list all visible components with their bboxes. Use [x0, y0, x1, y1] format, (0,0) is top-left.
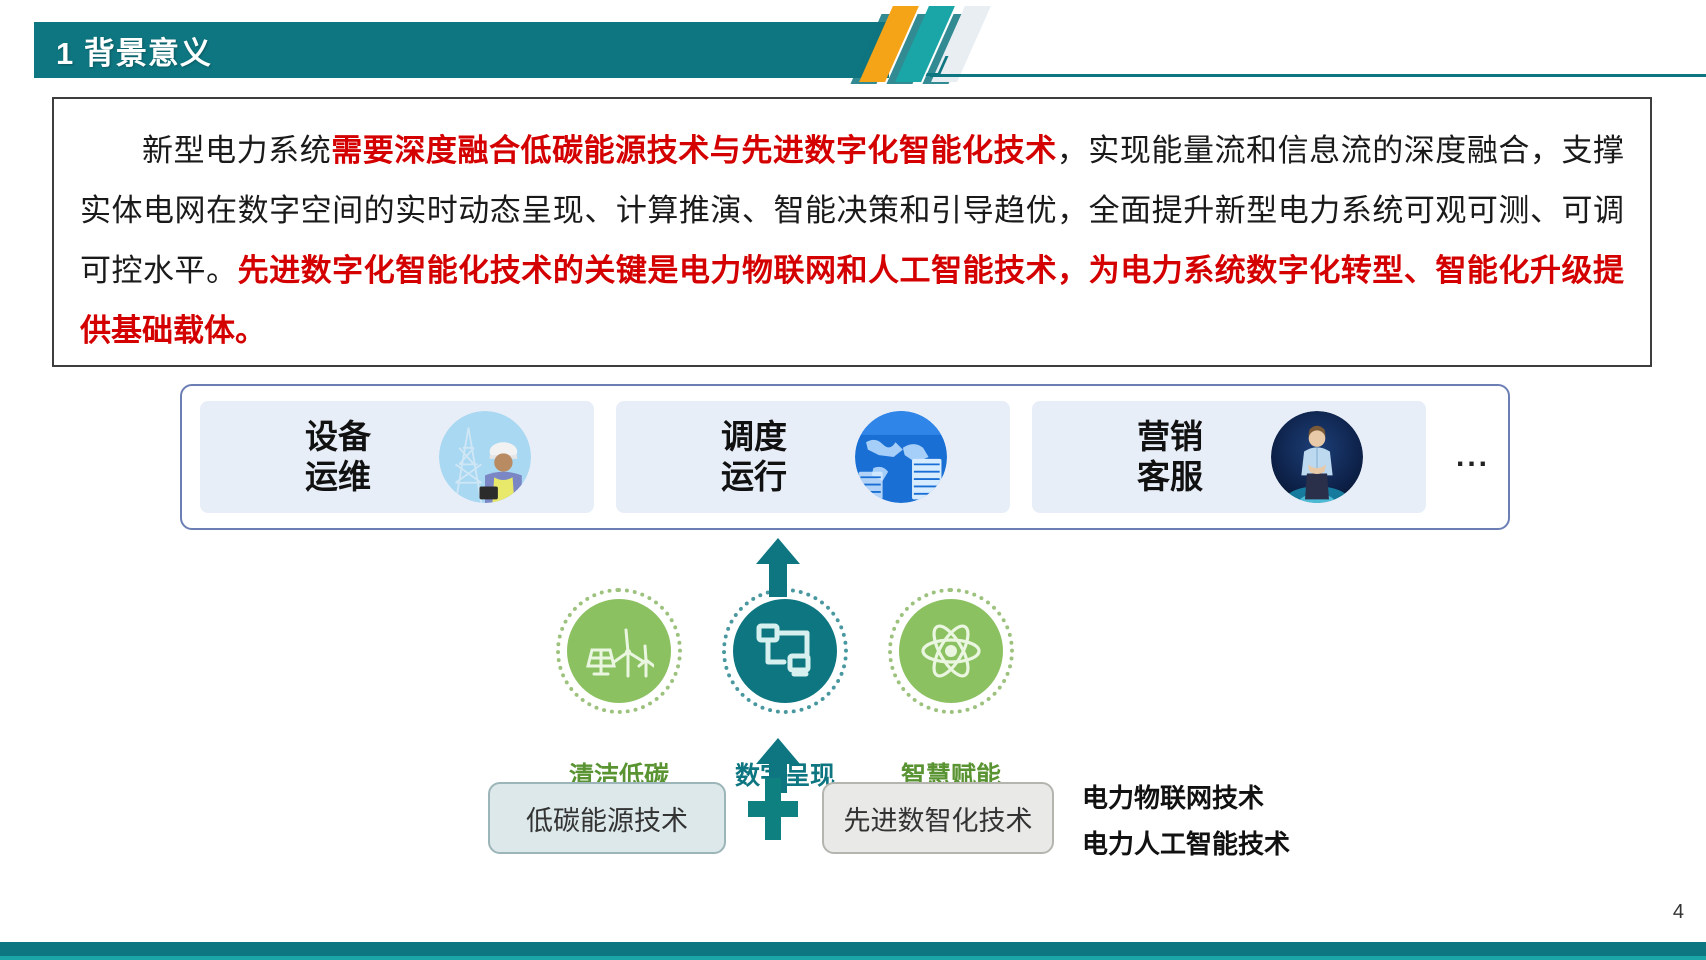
plus-icon [748, 778, 798, 840]
paragraph-segment-1: 新型电力系统 [142, 133, 331, 168]
card-label-line1: 设备 [263, 417, 413, 457]
page-title: 1 背景意义 [34, 28, 212, 73]
card-label-line2: 客服 [1095, 457, 1245, 497]
pillar-clean-low-carbon[interactable] [556, 588, 682, 714]
footer-accent [0, 956, 1706, 960]
card-label-line1: 调度 [679, 417, 829, 457]
card-label-line2: 运行 [679, 457, 829, 497]
tech-label-power-ai: 电力人工智能技术 [1082, 824, 1290, 861]
tech-label-power-iot: 电力物联网技术 [1082, 778, 1264, 815]
body-paragraph: 新型电力系统需要深度融合低碳能源技术与先进数字化智能化技术，实现能量流和信息流的… [80, 121, 1624, 361]
digital-human-avatar-photo [1271, 411, 1363, 503]
power-tower-worker-photo [439, 411, 531, 503]
card-dispatch-operations[interactable]: 调度 运行 [616, 401, 1010, 513]
page-number: 4 [1673, 901, 1684, 924]
card-label-line1: 营销 [1095, 417, 1245, 457]
digital-network-icon [733, 599, 837, 703]
body-text-box: 新型电力系统需要深度融合低碳能源技术与先进数字化智能化技术，实现能量流和信息流的… [52, 97, 1652, 367]
card-label: 营销 客服 [1095, 417, 1245, 497]
solar-wind-icon [567, 599, 671, 703]
application-cards-panel: 设备 运维 [180, 384, 1510, 530]
pillar-intelligent-empowerment[interactable] [888, 588, 1014, 714]
header-rule [930, 74, 1706, 77]
card-marketing-service[interactable]: 营销 客服 [1032, 401, 1426, 513]
paragraph-emphasis-2: 先进数字化智能化技术的关键是电力物联网和人工智能技术，为电力系统数字化转型、智能… [80, 253, 1624, 348]
paragraph-emphasis-1: 需要深度融合低碳能源技术与先进数字化智能化技术 [331, 133, 1057, 168]
atom-icon [899, 599, 1003, 703]
card-label: 调度 运行 [679, 417, 829, 497]
card-label-line2: 运维 [263, 457, 413, 497]
foundation-low-carbon-energy-tech[interactable]: 低碳能源技术 [488, 782, 726, 854]
cards-ellipsis: ... [1456, 440, 1490, 474]
card-label: 设备 运维 [263, 417, 413, 497]
pillar-digital-presentation[interactable] [722, 588, 848, 714]
card-equipment-om[interactable]: 设备 运维 [200, 401, 594, 513]
control-center-world-map-photo [855, 411, 947, 503]
slide-header-bar: 1 背景意义 [34, 22, 889, 78]
foundation-advanced-digital-intelligent-tech[interactable]: 先进数智化技术 [822, 782, 1054, 854]
